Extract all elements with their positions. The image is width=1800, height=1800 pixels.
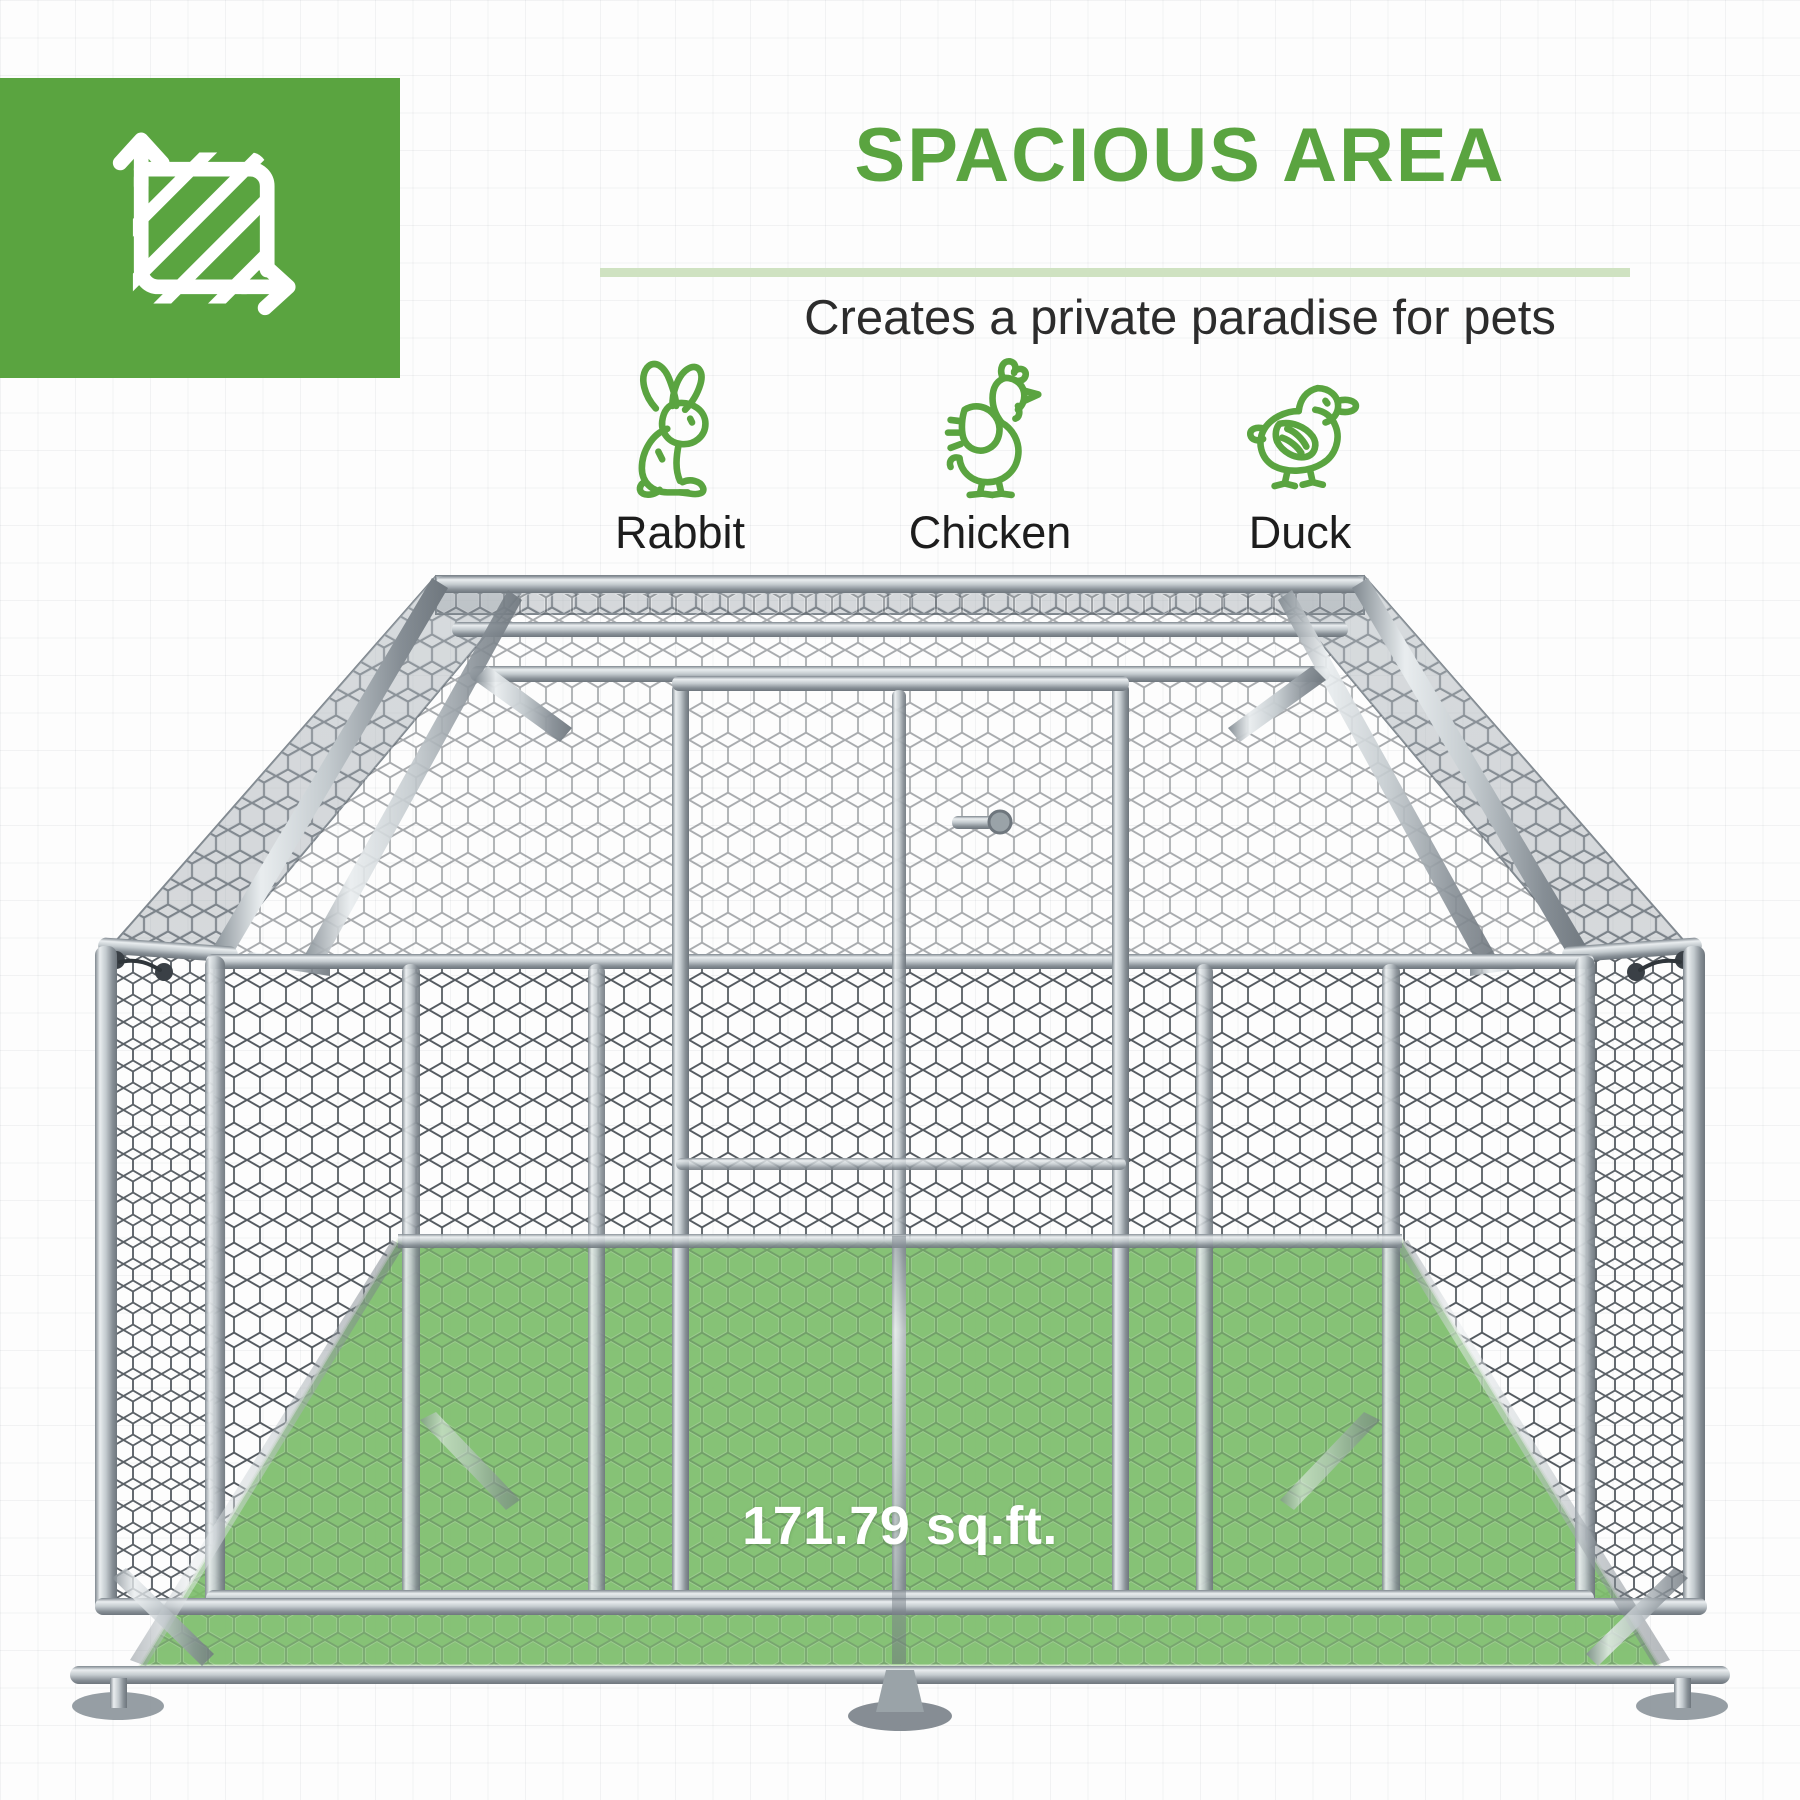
animal-label: Chicken	[909, 510, 1072, 555]
rabbit-icon	[615, 350, 745, 500]
animal-list: Rabbit	[560, 355, 1420, 555]
title-divider	[600, 268, 1630, 277]
area-expand-icon	[95, 123, 305, 333]
infographic-page: SPACIOUS AREA Creates a private paradise…	[0, 0, 1800, 1800]
animal-label: Rabbit	[615, 510, 745, 555]
animal-item-rabbit: Rabbit	[560, 350, 800, 555]
animal-item-chicken: Chicken	[870, 350, 1110, 555]
chicken-icon	[925, 350, 1055, 500]
duck-icon	[1235, 350, 1365, 500]
product-illustration	[0, 560, 1800, 1760]
page-title: SPACIOUS AREA	[600, 118, 1760, 194]
animal-label: Duck	[1249, 510, 1352, 555]
area-expand-icon-box	[0, 78, 400, 378]
animal-item-duck: Duck	[1180, 350, 1420, 555]
chicken-coop-render	[0, 560, 1800, 1760]
page-subtitle: Creates a private paradise for pets	[560, 290, 1800, 346]
